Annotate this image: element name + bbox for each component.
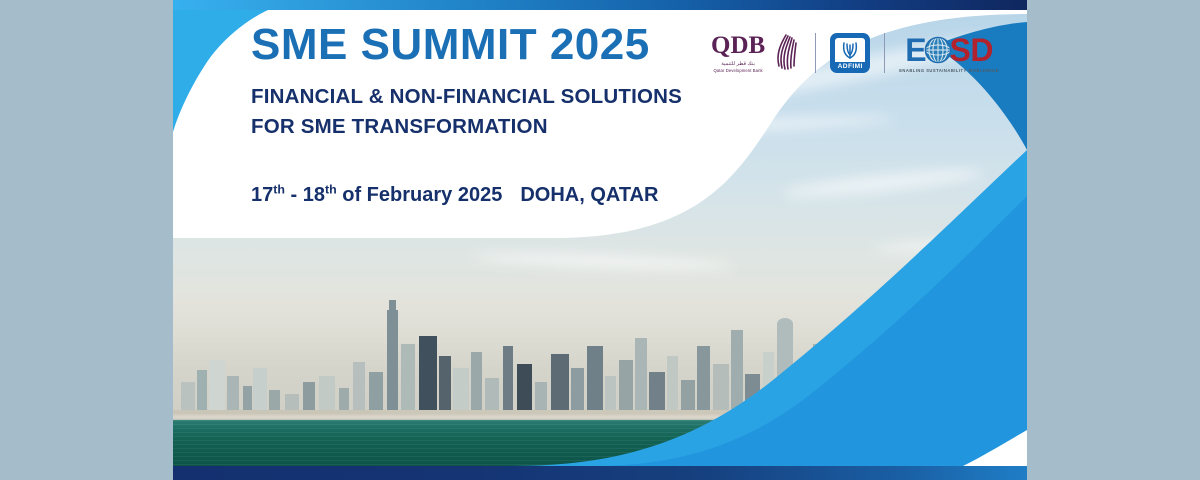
page-root: SME SUMMIT 2025 FINANCIAL & NON-FINANCIA… xyxy=(0,0,1200,480)
date-day-start-suffix: th xyxy=(273,182,285,196)
date-dash: - xyxy=(285,184,303,206)
globe-icon xyxy=(924,36,952,64)
adfimi-wordmark: ADFIMI xyxy=(838,63,863,70)
eosd-letters-sd: SD xyxy=(950,34,993,66)
logo-divider xyxy=(884,33,885,73)
banner-text-block: SME SUMMIT 2025 FINANCIAL & NON-FINANCIA… xyxy=(251,22,771,207)
qdb-flame-icon xyxy=(771,33,801,73)
event-location: DOHA, QATAR xyxy=(520,184,658,206)
qdb-wordmark: QDB بنك قطر للتنمية Qatar Development Ba… xyxy=(711,33,765,73)
eosd-wordmark: E SD xyxy=(905,34,993,66)
adfimi-logo[interactable]: ADFIMI xyxy=(830,33,870,73)
qdb-letters: QDB xyxy=(711,33,765,58)
qdb-english-name: Qatar Development Bank xyxy=(713,68,762,73)
eosd-tagline: ENABLING SUSTAINABILITY WORLDWIDE xyxy=(899,68,999,73)
date-day-end: 18 xyxy=(303,184,325,206)
date-month-year: of February 2025 xyxy=(337,184,503,206)
adfimi-emblem xyxy=(835,38,865,62)
skyline-silhouette xyxy=(173,290,1027,420)
event-dateline: 17th - 18th of February 2025DOHA, QATAR xyxy=(251,184,771,207)
event-banner: SME SUMMIT 2025 FINANCIAL & NON-FINANCIA… xyxy=(173,0,1027,480)
event-subtitle-line-1: FINANCIAL & NON-FINANCIAL SOLUTIONS xyxy=(251,82,771,112)
event-subtitle-line-2: FOR SME TRANSFORMATION xyxy=(251,112,771,142)
qdb-logo[interactable]: QDB بنك قطر للتنمية Qatar Development Ba… xyxy=(711,33,801,73)
partner-logos: QDB بنك قطر للتنمية Qatar Development Ba… xyxy=(711,22,999,84)
logo-divider xyxy=(815,33,816,73)
eosd-letter-e: E xyxy=(905,34,925,66)
event-title: SME SUMMIT 2025 xyxy=(251,22,771,68)
top-gradient-strip xyxy=(173,0,1027,10)
date-day-end-suffix: th xyxy=(325,182,337,196)
date-day-start: 17 xyxy=(251,184,273,206)
adfimi-tulip-icon xyxy=(839,40,861,60)
bottom-navy-strip xyxy=(173,466,1027,480)
sea-water xyxy=(173,420,1027,468)
eosd-logo[interactable]: E SD ENABLING SUSTAINABI xyxy=(899,34,999,73)
